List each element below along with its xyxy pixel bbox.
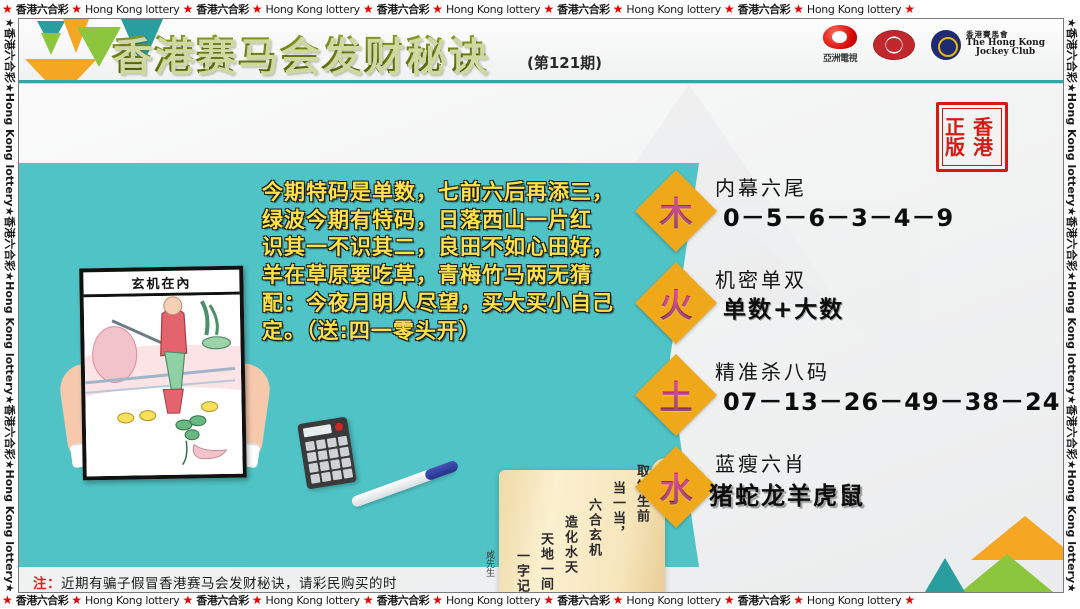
authenticity-seal: 正版 香港	[936, 102, 1008, 172]
element-badge-label: 火	[647, 274, 705, 332]
marquee-text-en: Hong Kong lottery	[0, 281, 18, 395]
poem-line: 羊在草原要吃草，青梅竹马两无猜	[262, 262, 662, 290]
marquee-text-cn: 香港六合彩	[1062, 28, 1080, 83]
prediction-label: 精准杀八码	[715, 356, 830, 385]
prediction-value: 0－5－6－3－4－9	[723, 198, 954, 233]
deco-triangle-green-3	[961, 554, 1053, 592]
jockey-club-mark-icon	[931, 30, 961, 60]
marquee-text-en: Hong Kong lottery	[85, 3, 179, 16]
marquee-star: ★	[2, 593, 13, 607]
prediction-value: 单数+大数	[723, 290, 844, 324]
marquee-star: ★	[363, 593, 374, 607]
marquee-text-en: Hong Kong lottery	[1062, 281, 1080, 395]
marquee-star: ★	[0, 460, 18, 470]
prediction-row: 火机密单双单数+大数	[647, 262, 1057, 354]
scroll-line: 一字记之日	[512, 549, 531, 592]
prediction-label: 机密单双	[715, 264, 807, 293]
marquee-text-cn: 香港六合彩	[738, 592, 791, 608]
prediction-row: 木内幕六尾0－5－6－3－4－9	[647, 170, 1057, 262]
marquee-star: ★	[1062, 18, 1080, 28]
marquee-text-en: Hong Kong lottery	[265, 3, 359, 16]
marquee-text-en: Hong Kong lottery	[0, 93, 18, 207]
note-line: 注：近期有骗子假冒香港赛马会发财秘诀，请彩民购买的时	[33, 572, 503, 592]
poem-line: 识其一不识其二，良田不如心田好，	[262, 234, 662, 262]
marquee-text-cn: 香港六合彩	[16, 1, 69, 17]
marquee-star: ★	[1062, 460, 1080, 470]
marquee-star: ★	[1062, 271, 1080, 281]
marquee-right: ★香港六合彩★Hong Kong lottery★香港六合彩★Hong Kong…	[1062, 18, 1080, 591]
marquee-star: ★	[0, 206, 18, 216]
marquee-text-en: Hong Kong lottery	[1062, 93, 1080, 207]
marquee-text-cn: 香港六合彩	[738, 1, 791, 17]
marquee-text-en: Hong Kong lottery	[626, 594, 720, 607]
marquee-text-cn: 香港六合彩	[0, 28, 18, 83]
logo-group: 亞洲電視 香港賽馬會 The Hong Kong Jockey Club	[823, 25, 1045, 64]
hk-emblem-logo	[873, 30, 915, 60]
marquee-text-cn: 香港六合彩	[196, 1, 249, 17]
poster-frame: 香港赛马会发财秘诀 (第121期) 亞洲電視 香港賽馬會 The Hong Ko…	[18, 18, 1064, 593]
note-tag: 注：	[33, 576, 61, 592]
marquee-star: ★	[543, 593, 554, 607]
marquee-star: ★	[904, 2, 915, 16]
element-badge-label: 水	[647, 458, 705, 516]
marquee-star: ★	[432, 593, 443, 607]
marquee-star: ★	[252, 593, 263, 607]
marquee-text-cn: 香港六合彩	[0, 405, 18, 460]
marquee-star: ★	[613, 593, 624, 607]
scroll-line: 六合玄机	[584, 498, 603, 558]
marquee-text-cn: 香港六合彩	[377, 592, 430, 608]
picture-header: 玄机在內	[83, 270, 239, 298]
marquee-top: ★香港六合彩★Hong Kong lottery★香港六合彩★Hong Kong…	[0, 0, 1080, 18]
marquee-left: ★香港六合彩★Hong Kong lottery★香港六合彩★Hong Kong…	[0, 18, 18, 591]
issue-number: (第121期)	[527, 52, 602, 73]
warning-note: 注：近期有骗子假冒香港赛马会发财秘诀，请彩民购买的时候。请认准图要请秀，版面要请…	[33, 572, 503, 592]
marquee-text-en: Hong Kong lottery	[807, 594, 901, 607]
calculator-power-key	[334, 422, 343, 431]
marquee-bottom: ★香港六合彩★Hong Kong lottery★香港六合彩★Hong Kong…	[0, 591, 1080, 609]
marquee-text-cn: 香港六合彩	[557, 592, 610, 608]
marquee-star: ★	[724, 593, 735, 607]
picture-card: 玄机在內	[79, 266, 247, 481]
poem-block: 今期特码是单数，七前六后再添三，绿波今期有特码，日落西山一片红识其一不识其二，良…	[262, 179, 662, 345]
marquee-star: ★	[182, 593, 193, 607]
marquee-star: ★	[432, 2, 443, 16]
marquee-text-cn: 香港六合彩	[557, 1, 610, 17]
marquee-text-cn: 香港六合彩	[196, 592, 249, 608]
marquee-text-en: Hong Kong lottery	[807, 3, 901, 16]
lottery-poster: ★香港六合彩★Hong Kong lottery★香港六合彩★Hong Kong…	[0, 0, 1080, 609]
marquee-text-en: Hong Kong lottery	[0, 470, 18, 584]
marquee-star: ★	[2, 2, 13, 16]
marquee-text-cn: 香港六合彩	[16, 592, 69, 608]
mystery-picture: 玄机在內	[63, 267, 265, 497]
marquee-star: ★	[0, 395, 18, 405]
atv-logo-label: 亞洲電視	[823, 51, 857, 64]
poem-line: 绿波今期有特码，日落西山一片红	[262, 207, 662, 235]
marquee-star: ★	[1062, 83, 1080, 93]
scroll-line: 当一当，	[608, 481, 627, 541]
comic-illustration-icon	[84, 295, 243, 477]
marquee-text-en: Hong Kong lottery	[1062, 470, 1080, 584]
marquee-text-en: Hong Kong lottery	[85, 594, 179, 607]
seal-text-left: 正版	[945, 117, 971, 158]
marquee-text-cn: 香港六合彩	[1062, 405, 1080, 460]
jockey-club-label-en2: Jockey Club	[966, 48, 1045, 57]
picture-artwork	[84, 295, 243, 477]
prediction-value: 07－13－26－49－38－24－32－29	[723, 382, 1063, 417]
poem-line: 定。（送:四一零头开）	[262, 318, 662, 346]
marquee-star: ★	[904, 593, 915, 607]
poster-body: 正版 香港 今期特码是单数，七前六后再添三，绿波今期有特码，日落西山一片红识其一…	[19, 84, 1063, 592]
scroll-text: 取钱生前当一当，六合玄机造化水天天地一间一字记之日	[507, 462, 657, 592]
marquee-star: ★	[0, 83, 18, 93]
element-badge-label: 土	[647, 366, 705, 424]
marquee-star: ★	[0, 18, 18, 28]
marquee-text-cn: 香港六合彩	[0, 216, 18, 271]
deco-triangle-green-1	[41, 33, 61, 55]
calculator-keys	[305, 436, 353, 484]
poster-header: 香港赛马会发财秘诀 (第121期) 亞洲電視 香港賽馬會 The Hong Ko…	[19, 19, 1063, 81]
prediction-list: 木内幕六尾0－5－6－3－4－9火机密单双单数+大数土精准杀八码07－13－26…	[647, 170, 1057, 538]
marquee-star: ★	[71, 593, 82, 607]
element-badge-label: 木	[647, 182, 705, 240]
scroll-line: 天地一间	[536, 532, 555, 592]
deco-triangle-teal-3	[925, 558, 965, 592]
deco-triangle-orange-2	[25, 59, 97, 81]
marquee-star: ★	[182, 2, 193, 16]
marquee-star: ★	[0, 583, 18, 591]
marquee-text-en: Hong Kong lottery	[626, 3, 720, 16]
marquee-star: ★	[1062, 395, 1080, 405]
marquee-star: ★	[1062, 583, 1080, 591]
marquee-star: ★	[0, 271, 18, 281]
scroll-line: 造化水天	[560, 515, 579, 575]
marquee-text-cn: 香港六合彩	[1062, 216, 1080, 271]
marquee-star: ★	[613, 2, 624, 16]
atv-logo: 亞洲電視	[823, 25, 857, 64]
marquee-text-cn: 香港六合彩	[377, 1, 430, 17]
poem-line: 配：今夜月明人尽望，买大买小自己	[262, 290, 662, 318]
marquee-star: ★	[252, 2, 263, 16]
poem-line: 今期特码是单数，七前六后再添三，	[262, 179, 662, 207]
calculator-screen	[303, 424, 332, 437]
prediction-label: 蓝瘦六肖	[715, 448, 807, 477]
marquee-text-en: Hong Kong lottery	[446, 3, 540, 16]
marquee-star: ★	[363, 2, 374, 16]
marquee-star: ★	[793, 2, 804, 16]
calculator-icon	[297, 416, 357, 489]
page-title: 香港赛马会发财秘诀	[111, 23, 489, 81]
prediction-value: 猪蛇龙羊虎鼠	[709, 476, 865, 511]
marquee-text-en: Hong Kong lottery	[265, 594, 359, 607]
prediction-row: 土精准杀八码07－13－26－49－38－24－32－29	[647, 354, 1057, 446]
seal-text-right: 香港	[973, 117, 999, 158]
prediction-label: 内幕六尾	[715, 172, 807, 201]
atv-mark-icon	[823, 25, 857, 49]
marquee-star: ★	[724, 2, 735, 16]
marquee-star: ★	[1062, 206, 1080, 216]
marquee-star: ★	[543, 2, 554, 16]
marquee-star: ★	[71, 2, 82, 16]
marquee-star: ★	[793, 593, 804, 607]
jockey-club-logo: 香港賽馬會 The Hong Kong Jockey Club	[931, 30, 1045, 60]
marquee-text-en: Hong Kong lottery	[446, 594, 540, 607]
